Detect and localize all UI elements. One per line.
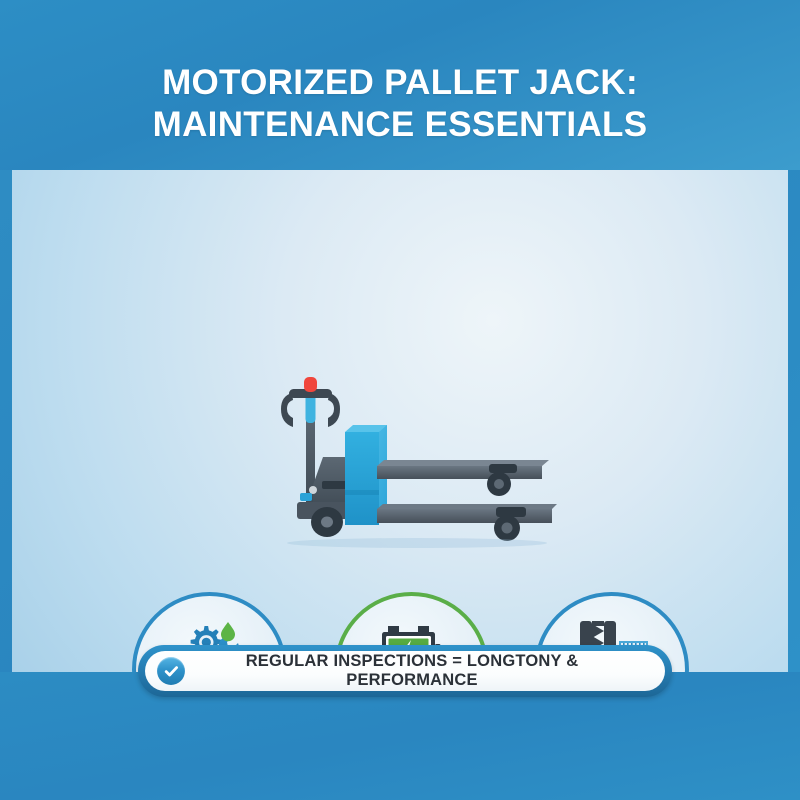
summary-banner-inner: REGULAR INSPECTIONS = LONGTONY & PERFORM…: [145, 651, 665, 691]
page-title: MOTORIZED PALLET JACK: MAINTENANCE ESSEN…: [0, 62, 800, 146]
body-panel: HYBRAUIC SYSTEM: CHECK FLUIDS & NO LEAKS…: [12, 170, 788, 672]
pallet-jack-svg: [267, 365, 557, 550]
summary-banner-text: REGULAR INSPECTIONS = LONGTONY & PERFORM…: [185, 652, 665, 690]
summary-banner[interactable]: REGULAR INSPECTIONS = LONGTONY & PERFORM…: [138, 645, 672, 697]
check-circle-icon: [157, 657, 185, 685]
pallet-jack-illustration: [267, 365, 557, 550]
infographic-canvas: MOTORIZED PALLET JACK: MAINTENANCE ESSEN…: [0, 0, 800, 800]
header-band: MOTORIZED PALLET JACK: MAINTENANCE ESSEN…: [0, 0, 800, 170]
